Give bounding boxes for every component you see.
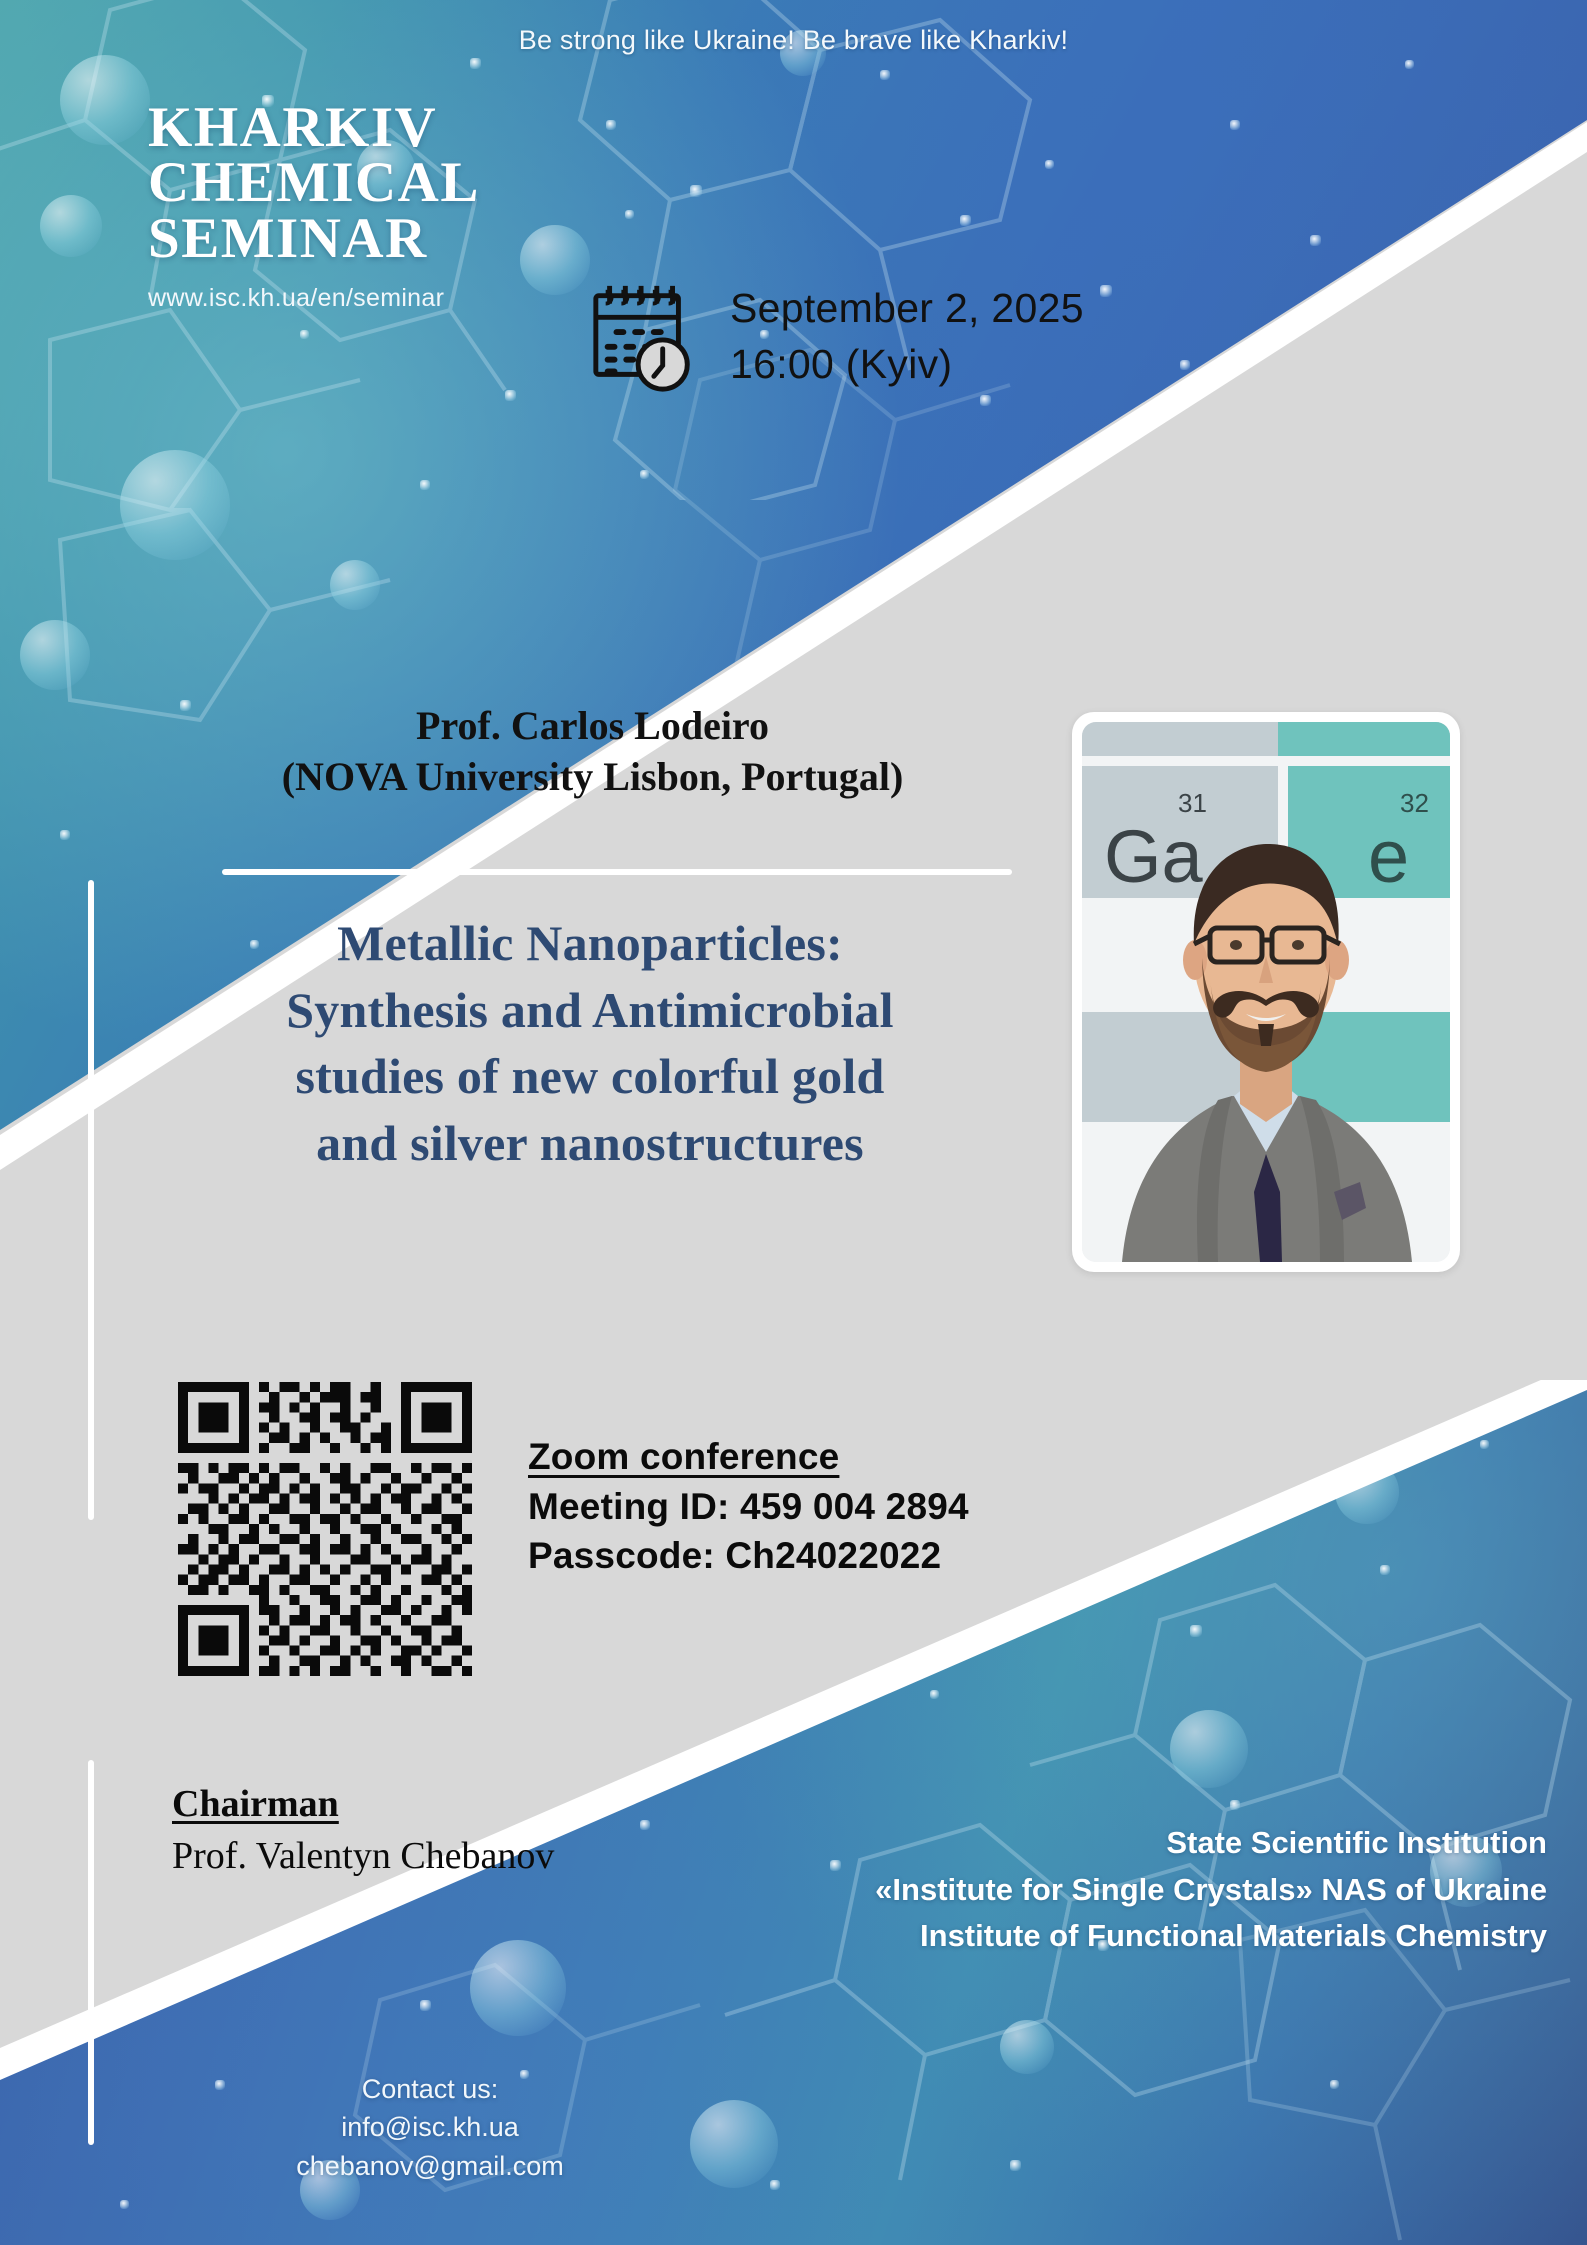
sparkle [60, 830, 70, 840]
sparkle [120, 2200, 129, 2209]
chairman-name: Prof. Valentyn Chebanov [172, 1830, 554, 1882]
calendar-clock-icon [586, 278, 704, 396]
sparkle [880, 70, 890, 80]
event-date: September 2, 2025 [730, 281, 1084, 337]
institution-line-3: Institute of Functional Materials Chemis… [547, 1913, 1547, 1960]
sparkle [420, 480, 430, 490]
sparkle [1100, 285, 1112, 297]
sparkle [1275, 1472, 1286, 1483]
sparkle [1045, 160, 1054, 169]
talk-title: Metallic Nanoparticles: Synthesis and An… [150, 910, 1030, 1176]
contact-email-2[interactable]: chebanov@gmail.com [180, 2147, 680, 2185]
sparkle [1230, 1800, 1240, 1810]
sparkle [770, 2180, 780, 2190]
sparkle [505, 390, 516, 401]
sparkle [930, 1690, 939, 1699]
speaker-affiliation: (NOVA University Lisbon, Portugal) [150, 751, 1035, 802]
glow-bubble [330, 560, 380, 610]
glow-bubble [1000, 2020, 1054, 2074]
event-datetime: September 2, 2025 16:00 (Kyiv) [586, 278, 1084, 396]
sparkle [1380, 1565, 1390, 1575]
sparkle [1460, 300, 1472, 312]
event-date-time-text: September 2, 2025 16:00 (Kyiv) [730, 281, 1084, 393]
sparkle [1330, 2080, 1339, 2089]
glow-bubble [690, 2100, 778, 2188]
speaker-block: Prof. Carlos Lodeiro (NOVA University Li… [150, 700, 1035, 802]
sparkle [300, 330, 309, 339]
tagline: Be strong like Ukraine! Be brave like Kh… [0, 25, 1587, 56]
sparkle [420, 2000, 431, 2011]
qr-code[interactable] [178, 1382, 472, 1676]
glow-bubble [60, 55, 150, 145]
sparkle [1190, 1625, 1202, 1637]
institution-block: State Scientific Institution «Institute … [547, 1820, 1547, 1960]
sparkle [960, 215, 971, 226]
zoom-conference-block: Zoom conference Meeting ID: 459 004 2894… [528, 1432, 969, 1581]
institution-line-2: «Institute for Single Crystals» NAS of U… [547, 1867, 1547, 1914]
sparkle [1010, 2160, 1021, 2171]
speaker-name: Prof. Carlos Lodeiro [150, 700, 1035, 751]
sparkle [470, 58, 481, 69]
left-accent-line [88, 880, 94, 1520]
sparkle [640, 470, 649, 479]
zoom-heading: Zoom conference [528, 1432, 969, 1482]
svg-text:Ga: Ga [1104, 815, 1204, 898]
zoom-meeting-id: Meeting ID: 459 004 2894 [528, 1482, 969, 1532]
sparkle [1480, 1440, 1489, 1449]
talk-title-line-2: Synthesis and Antimicrobial [150, 977, 1030, 1044]
title-separator [222, 869, 1012, 875]
sparkle [980, 395, 991, 406]
chairman-block: Chairman Prof. Valentyn Chebanov [172, 1778, 554, 1883]
sparkle [1405, 60, 1414, 69]
contact-heading: Contact us: [180, 2070, 680, 2108]
svg-text:e: e [1368, 815, 1409, 898]
talk-title-line-3: studies of new colorful gold [150, 1043, 1030, 1110]
brand-line-1: KHARKIV [148, 100, 768, 155]
brand-line-3: SEMINAR [148, 211, 768, 266]
glow-bubble [20, 620, 90, 690]
glow-bubble [1170, 1710, 1248, 1788]
glow-bubble [120, 450, 230, 560]
speaker-photo-frame: 31 32 Ga e [1072, 712, 1460, 1272]
zoom-passcode: Passcode: Ch24022022 [528, 1531, 969, 1581]
contact-email-1[interactable]: info@isc.kh.ua [180, 2108, 680, 2146]
glow-bubble [40, 195, 102, 257]
brand-line-2: CHEMICAL [148, 155, 768, 210]
sparkle [1310, 235, 1321, 246]
seminar-poster: Be strong like Ukraine! Be brave like Kh… [0, 0, 1587, 2245]
chairman-heading: Chairman [172, 1778, 554, 1830]
speaker-photo: 31 32 Ga e [1082, 722, 1450, 1262]
sparkle [1230, 120, 1240, 130]
talk-title-line-4: and silver nanostructures [150, 1110, 1030, 1177]
event-time: 16:00 (Kyiv) [730, 337, 1084, 393]
svg-text:31: 31 [1178, 788, 1207, 818]
left-accent-line-lower [88, 1760, 94, 2145]
sparkle [1180, 360, 1190, 370]
svg-text:32: 32 [1400, 788, 1429, 818]
contact-block: Contact us: info@isc.kh.ua chebanov@gmai… [180, 2070, 680, 2185]
institution-line-1: State Scientific Institution [547, 1820, 1547, 1867]
talk-title-line-1: Metallic Nanoparticles: [150, 910, 1030, 977]
